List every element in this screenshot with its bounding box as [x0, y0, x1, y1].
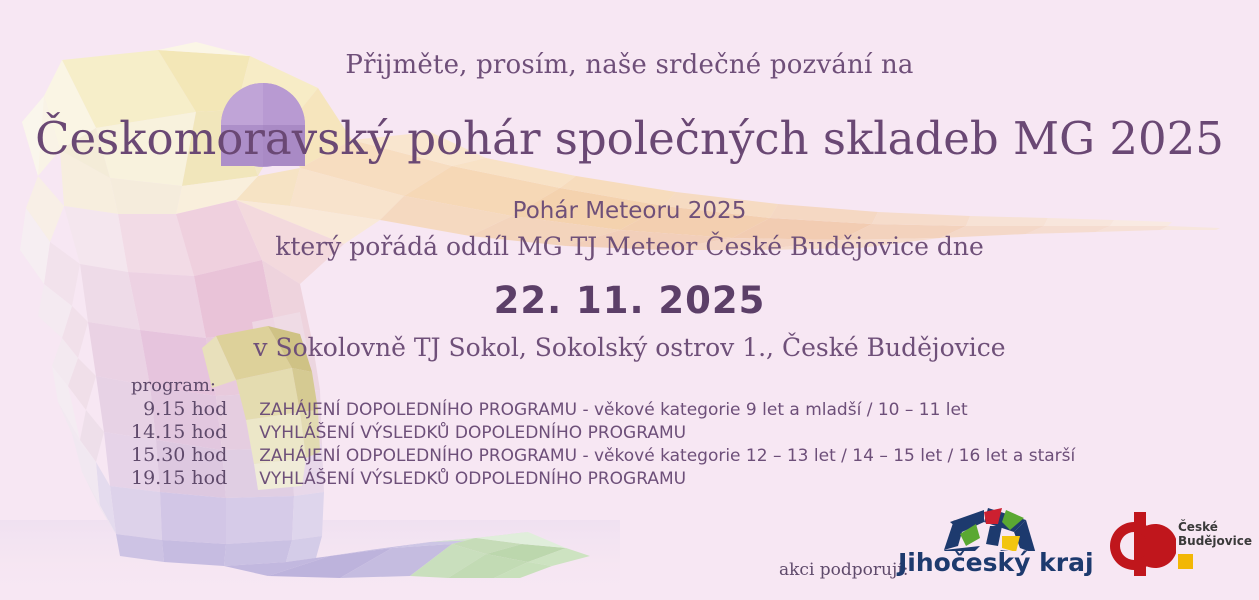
cb-monogram-icon [1104, 508, 1176, 580]
program-description: VYHLÁŠENÍ VÝSLEDKŮ DOPOLEDNÍHO PROGRAMU [259, 421, 1075, 444]
program-label: program: [131, 375, 1075, 396]
cb-line-1: České [1178, 520, 1252, 534]
event-date: 22. 11. 2025 [0, 279, 1259, 322]
program-table: 9.15 hod ZAHÁJENÍ DOPOLEDNÍHO PROGRAMU -… [131, 398, 1075, 490]
subtitle-organizer: který pořádá oddíl MG TJ Meteor České Bu… [0, 232, 1259, 261]
program-description: VYHLÁŠENÍ VÝSLEDKŮ ODPOLEDNÍHO PROGRAMU [259, 467, 1075, 490]
cb-yellow-square [1178, 554, 1193, 569]
program-time: 15.30 hod [131, 444, 259, 467]
program-description: ZAHÁJENÍ DOPOLEDNÍHO PROGRAMU - věkové k… [259, 398, 1075, 421]
program-time: 9.15 hod [131, 398, 259, 421]
ceske-budejovice-wordmark: České Budějovice [1178, 520, 1252, 548]
table-row: 9.15 hod ZAHÁJENÍ DOPOLEDNÍHO PROGRAMU -… [131, 398, 1075, 421]
program-description: ZAHÁJENÍ ODPOLEDNÍHO PROGRAMU - věkové k… [259, 444, 1075, 467]
cb-line-2: Budějovice [1178, 534, 1252, 548]
jihocesky-kraj-wordmark: Jihočeský kraj [898, 548, 1078, 577]
program-time: 19.15 hod [131, 467, 259, 490]
poster-canvas: Přijměte, prosím, naše srdečné pozvání n… [0, 0, 1259, 600]
subtitle-cup-name: Pohár Meteoru 2025 [0, 198, 1259, 224]
table-row: 19.15 hod VYHLÁŠENÍ VÝSLEDKŮ ODPOLEDNÍHO… [131, 467, 1075, 490]
event-venue: v Sokolovně TJ Sokol, Sokolský ostrov 1.… [0, 333, 1259, 362]
program-time: 14.15 hod [131, 421, 259, 444]
table-row: 15.30 hod ZAHÁJENÍ ODPOLEDNÍHO PROGRAMU … [131, 444, 1075, 467]
table-row: 14.15 hod VYHLÁŠENÍ VÝSLEDKŮ DOPOLEDNÍHO… [131, 421, 1075, 444]
jihocesky-kraj-logo: Jihočeský kraj [898, 505, 1078, 585]
page-title: Českomoravský pohár společných skladeb M… [0, 112, 1259, 165]
sponsor-note: akci podporují: [779, 560, 908, 580]
poster-text-layer: Přijměte, prosím, naše srdečné pozvání n… [0, 0, 1259, 600]
program-section: program: 9.15 hod ZAHÁJENÍ DOPOLEDNÍHO P… [131, 375, 1075, 490]
jihocesky-kraj-emblem-icon [898, 505, 1078, 551]
invitation-line: Přijměte, prosím, naše srdečné pozvání n… [0, 50, 1259, 80]
ceske-budejovice-logo: České Budějovice [1104, 508, 1244, 582]
